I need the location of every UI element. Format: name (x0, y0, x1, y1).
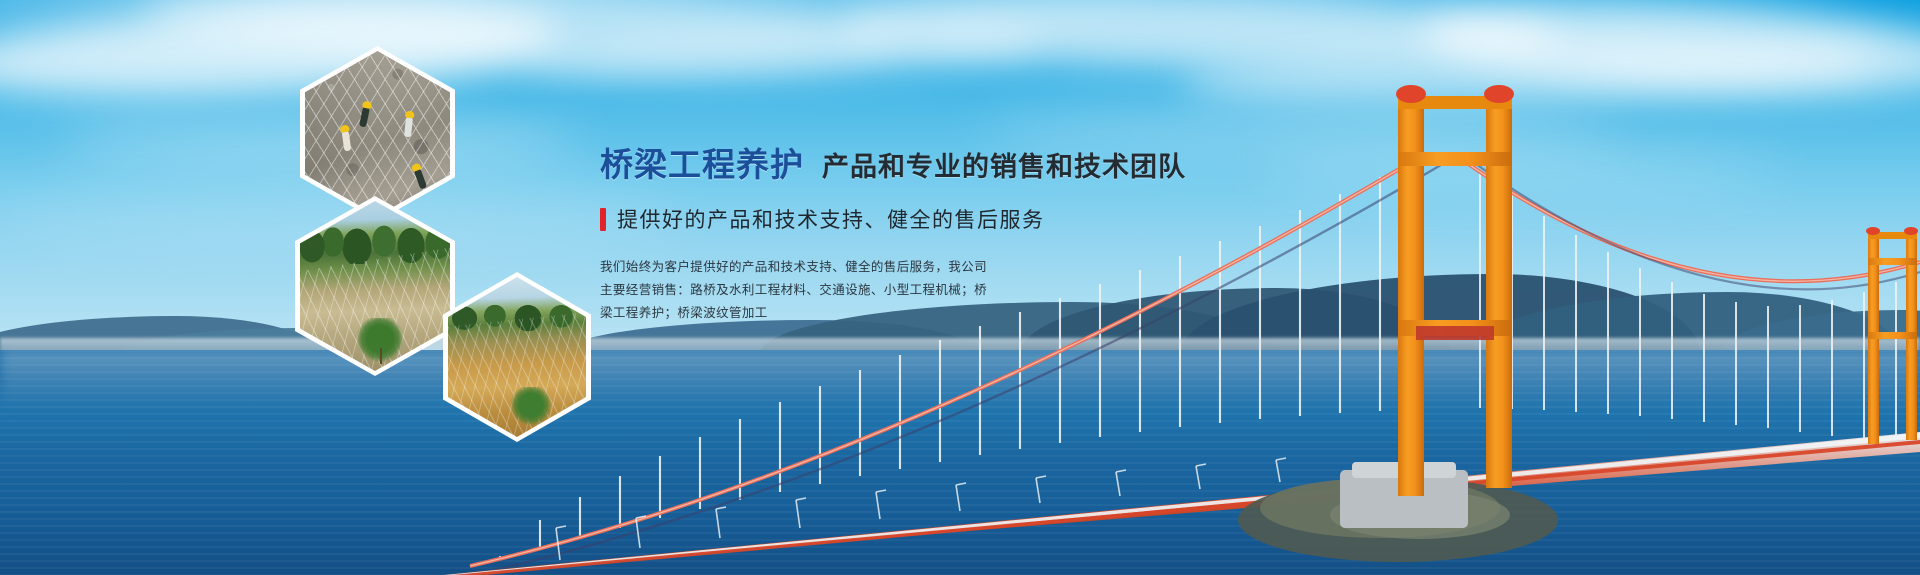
photo-hex-green-hillside-mesh (295, 196, 455, 376)
cloud (1260, 150, 1780, 186)
headline-secondary: 产品和专业的销售和技术团队 (822, 154, 1186, 181)
hexagon-photo-collage (0, 0, 640, 575)
photo-hex-rock-slope-netting-workers (300, 46, 455, 221)
banner-copy: 桥梁工程养护 产品和专业的销售和技术团队 提供好的产品和技术支持、健全的售后服务… (600, 148, 1300, 325)
accent-bar-icon (600, 208, 606, 231)
body-paragraph: 我们始终为客户提供好的产品和技术支持、健全的售后服务，我公司主要经营销售：路桥及… (600, 256, 992, 325)
hero-banner: 桥梁工程养护 产品和专业的销售和技术团队 提供好的产品和技术支持、健全的售后服务… (0, 0, 1920, 575)
photo-hex-ochre-slope-mesh (443, 272, 591, 442)
headline: 桥梁工程养护 产品和专业的销售和技术团队 (600, 148, 1300, 181)
subheadline: 提供好的产品和技术支持、健全的售后服务 (600, 204, 1300, 234)
cloud (980, 112, 1620, 152)
headline-primary: 桥梁工程养护 (600, 148, 804, 181)
subheadline-text: 提供好的产品和技术支持、健全的售后服务 (617, 204, 1045, 234)
